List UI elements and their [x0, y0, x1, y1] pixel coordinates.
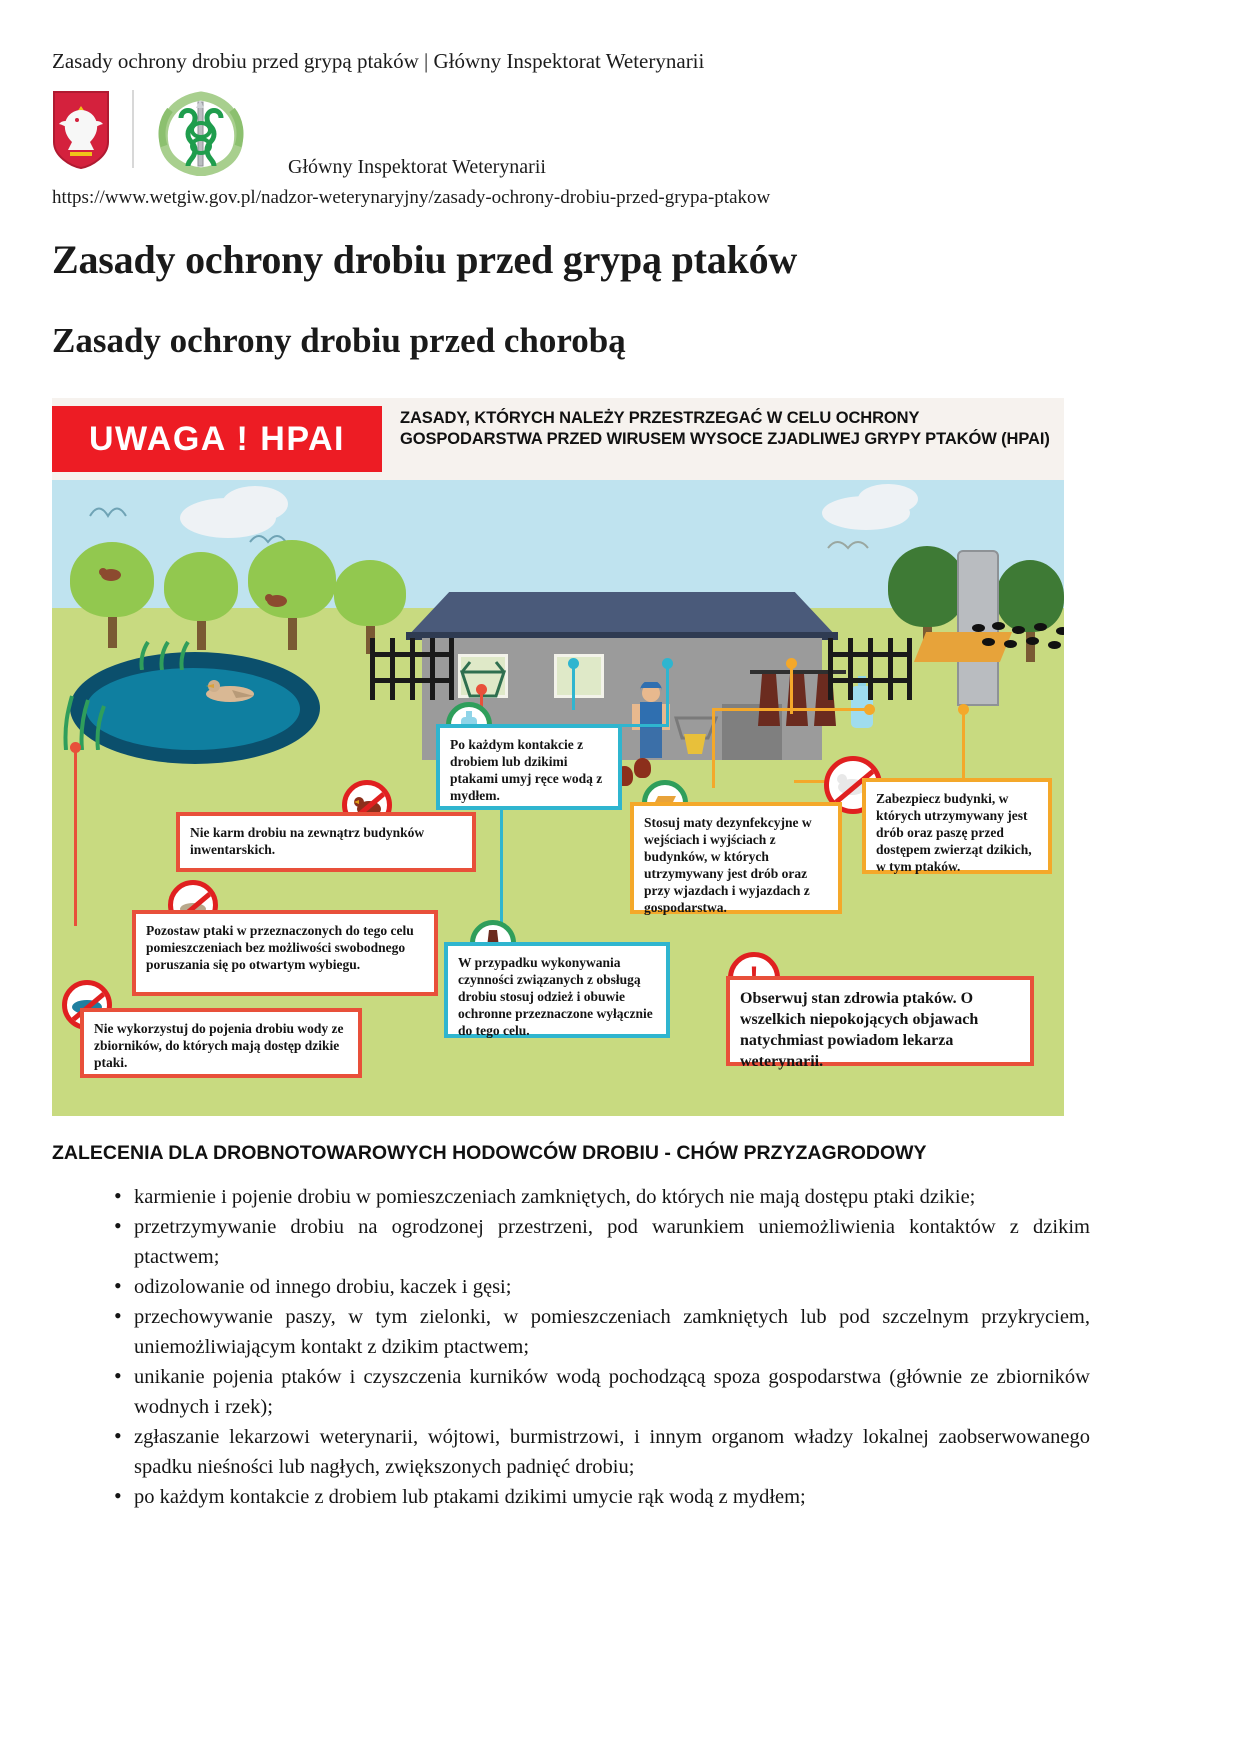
list-item: przetrzymywanie drobiu na ogrodzonej prz…: [118, 1212, 1090, 1272]
reeds-icon: [136, 640, 206, 670]
wild-duck-icon: [202, 678, 260, 704]
connector-line: [712, 708, 715, 788]
callout-protective-clothing: W przypadku wykonywania czynności związa…: [444, 942, 670, 1038]
callout-text: Nie karm drobiu na zewnątrz budynków inw…: [190, 824, 462, 858]
header-logos: [52, 90, 254, 176]
callout-text: Po każdym kontakcie z drobiem lub dzikim…: [450, 736, 608, 804]
document-page: Zasady ochrony drobiu przed grypą ptaków…: [0, 0, 1240, 1754]
list-item: unikanie pojenia ptaków i czyszczenia ku…: [118, 1362, 1090, 1422]
barn-window: [554, 654, 604, 698]
organization-name: Główny Inspektorat Weterynarii: [288, 155, 546, 179]
list-item: zgłaszanie lekarzowi weterynarii, wójtow…: [118, 1422, 1090, 1482]
alert-badge: UWAGA ! HPAI: [52, 406, 382, 472]
callout-disinfection-mats: Stosuj maty dezynfekcyjne w wejściach i …: [630, 802, 842, 914]
callout-no-surface-water: Nie wykorzystuj do pojenia drobiu wody z…: [80, 1008, 362, 1078]
page-subtitle: Zasady ochrony drobiu przed chorobą: [52, 320, 626, 362]
farm-illustration: ! Nie karm drobiu na zewnątrz budynków i…: [52, 480, 1064, 1116]
bucket-icon: [680, 726, 710, 756]
infographic-banner: UWAGA ! HPAI ZASADY, KTÓRYCH NALEŻY PRZE…: [52, 398, 1064, 480]
callout-observe-health: Obserwuj stan zdrowia ptaków. O wszelkic…: [726, 976, 1034, 1066]
veterinary-caduceus-laurel-icon: [148, 90, 254, 176]
connector-line: [790, 662, 793, 714]
tree-icon: [164, 552, 238, 648]
perched-bird-icon: [264, 592, 290, 610]
connector-line: [666, 662, 669, 726]
browser-tab-title: Zasady ochrony drobiu przed grypą ptaków…: [52, 48, 704, 74]
flying-bird-icon: [826, 538, 870, 558]
connector-line: [962, 708, 965, 782]
callout-text: W przypadku wykonywania czynności związa…: [458, 954, 656, 1039]
logo-divider: [132, 90, 134, 168]
wild-bird-flock: [972, 622, 1064, 656]
callout-text: Stosuj maty dezynfekcyjne w wejściach i …: [644, 814, 828, 916]
tree-icon: [248, 540, 336, 648]
callout-text: Zabezpiecz budynki, w których utrzymywan…: [876, 790, 1038, 875]
page-url[interactable]: https://www.wetgiw.gov.pl/nadzor-weteryn…: [52, 186, 770, 210]
list-item: karmienie i pojenie drobiu w pomieszczen…: [118, 1182, 1090, 1212]
callout-wash-hands: Po każdym kontakcie z drobiem lub dzikim…: [436, 724, 622, 810]
recommendations-heading: ZALECENIA DLA DROBNOTOWAROWYCH HODOWCÓW …: [52, 1141, 927, 1165]
recommendations-list: karmienie i pojenie drobiu w pomieszczen…: [92, 1182, 1090, 1512]
hpai-infographic: UWAGA ! HPAI ZASADY, KTÓRYCH NALEŻY PRZE…: [52, 398, 1064, 1116]
callout-keep-birds-indoors: Pozostaw ptaki w przeznaczonych do tego …: [132, 910, 438, 996]
connector-line: [74, 746, 77, 926]
list-item: odizolowanie od innego drobiu, kaczek i …: [118, 1272, 1090, 1302]
fence: [370, 638, 454, 700]
fence: [828, 638, 912, 700]
connector-line: [572, 662, 575, 710]
pond-water: [86, 668, 300, 750]
page-title: Zasady ochrony drobiu przed grypą ptaków: [52, 236, 797, 284]
cloud-icon: [222, 486, 288, 522]
tree-icon: [70, 542, 154, 646]
alert-badge-label: UWAGA ! HPAI: [89, 420, 345, 459]
callout-secure-buildings: Zabezpiecz budynki, w których utrzymywan…: [862, 778, 1052, 874]
polish-eagle-coat-of-arms-icon: [52, 90, 110, 170]
reeds-icon: [58, 676, 114, 750]
list-item: po każdym kontakcie z drobiem lub ptakam…: [118, 1482, 1090, 1512]
callout-text: Nie wykorzystuj do pojenia drobiu wody z…: [94, 1020, 348, 1071]
perched-bird-icon: [98, 566, 124, 584]
cloud-icon: [858, 484, 918, 514]
connector-line: [712, 708, 867, 711]
flying-bird-icon: [88, 504, 128, 526]
list-item: przechowywanie paszy, w tym zielonki, w …: [118, 1302, 1090, 1362]
banner-text: ZASADY, KTÓRYCH NALEŻY PRZESTRZEGAĆ W CE…: [400, 408, 1060, 450]
callout-text: Obserwuj stan zdrowia ptaków. O wszelkic…: [740, 988, 1020, 1072]
callout-no-outdoor-feeding: Nie karm drobiu na zewnątrz budynków inw…: [176, 812, 476, 872]
outdoor-feeder-icon: [456, 658, 510, 702]
callout-text: Pozostaw ptaki w przeznaczonych do tego …: [146, 922, 424, 973]
